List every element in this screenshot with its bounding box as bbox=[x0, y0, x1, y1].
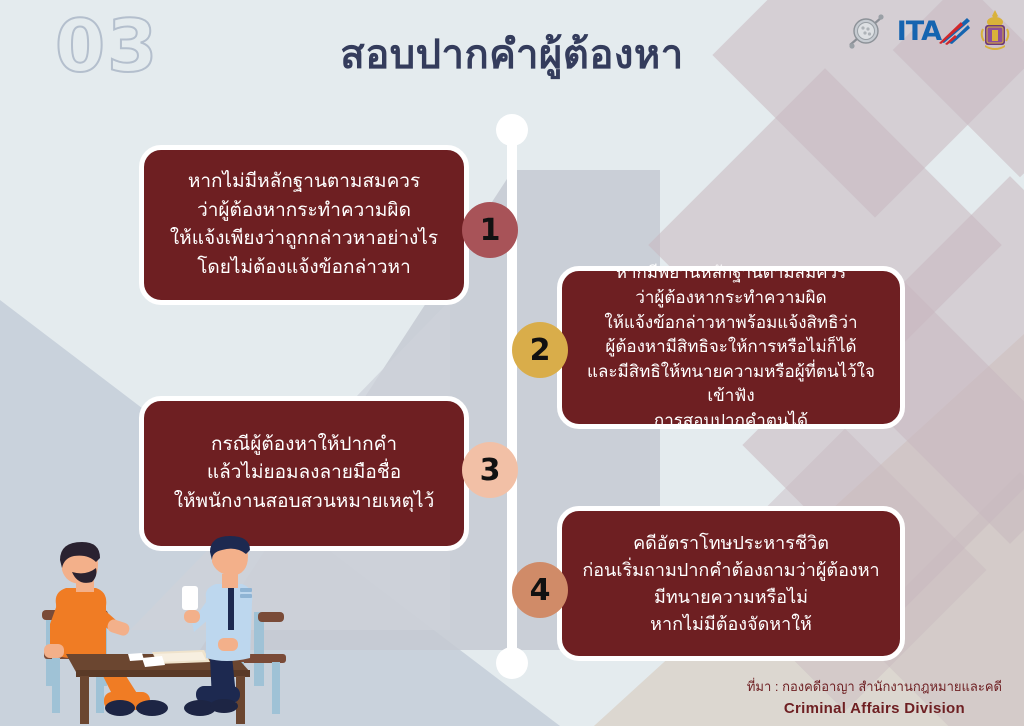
step-badge-2[interactable]: 2 bbox=[512, 322, 568, 378]
suspect-figure bbox=[44, 542, 168, 716]
logo-group: ITA bbox=[844, 8, 1010, 54]
step-badge-4-number: 4 bbox=[530, 573, 551, 608]
step-card-2[interactable]: หากมีพยานหลักฐานตามสมควรว่าผู้ต้องหากระท… bbox=[557, 266, 905, 429]
card-line: การสอบปากคำตนได้ bbox=[578, 409, 884, 434]
card-line: คดีอัตราโทษประหารชีวิต bbox=[582, 530, 879, 557]
ita-logo: ITA bbox=[897, 16, 971, 47]
card-line: ก่อนเริ่มถามปากคำต้องถามว่าผู้ต้องหา bbox=[582, 557, 879, 584]
step-card-3-text: กรณีผู้ต้องหาให้ปากคำแล้วไม่ยอมลงลายมือช… bbox=[174, 431, 435, 517]
card-line: หากมีพยานหลักฐานตามสมควร bbox=[578, 261, 884, 286]
card-line: และมีสิทธิให้ทนายความหรือผู้ที่ตนไว้ใจเข… bbox=[578, 360, 884, 409]
step-badge-2-number: 2 bbox=[530, 333, 551, 368]
royal-emblem-icon bbox=[980, 9, 1010, 53]
step-badge-1-number: 1 bbox=[480, 213, 501, 248]
interrogation-scene bbox=[0, 526, 290, 726]
footer-division: Criminal Affairs Division bbox=[747, 697, 1002, 720]
card-line: มีทนายความหรือไม่ bbox=[582, 584, 879, 611]
card-line: ว่าผู้ต้องหากระทำความผิด bbox=[170, 197, 438, 226]
timeline-bottom-dot bbox=[496, 647, 528, 679]
step-badge-4[interactable]: 4 bbox=[512, 562, 568, 618]
timeline-top-dot bbox=[496, 114, 528, 146]
footer-source: ที่มา : กองคดีอาญา สำนักงานกฎหมายและคดี bbox=[747, 677, 1002, 697]
step-card-1-text: หากไม่มีหลักฐานตามสมควรว่าผู้ต้องหากระทำ… bbox=[170, 168, 438, 282]
card-line: ว่าผู้ต้องหากระทำความผิด bbox=[578, 286, 884, 311]
card-line: โดยไม่ต้องแจ้งข้อกล่าวหา bbox=[170, 254, 438, 283]
step-badge-3-number: 3 bbox=[480, 453, 501, 488]
step-card-4-text: คดีอัตราโทษประหารชีวิตก่อนเริ่มถามปากคำต… bbox=[582, 530, 879, 638]
footer: ที่มา : กองคดีอาญา สำนักงานกฎหมายและคดี … bbox=[747, 677, 1002, 720]
card-line: ให้แจ้งข้อกล่าวหาพร้อมแจ้งสิทธิว่า bbox=[578, 311, 884, 336]
slide-root: 03 สอบปากคำผู้ต้องหา ITA bbox=[0, 0, 1024, 726]
card-line: ผู้ต้องหามีสิทธิจะให้การหรือไม่ก็ได้ bbox=[578, 335, 884, 360]
step-badge-1[interactable]: 1 bbox=[462, 202, 518, 258]
card-line: หากไม่มีหลักฐานตามสมควร bbox=[170, 168, 438, 197]
step-card-2-text: หากมีพยานหลักฐานตามสมควรว่าผู้ต้องหากระท… bbox=[578, 261, 884, 433]
police-seal-icon bbox=[844, 9, 888, 53]
ita-logo-text: ITA bbox=[897, 16, 941, 47]
card-line: แล้วไม่ยอมลงลายมือชื่อ bbox=[174, 459, 435, 488]
card-line: ให้แจ้งเพียงว่าถูกกล่าวหาอย่างไร bbox=[170, 225, 438, 254]
step-card-1[interactable]: หากไม่มีหลักฐานตามสมควรว่าผู้ต้องหากระทำ… bbox=[139, 145, 469, 305]
card-line: กรณีผู้ต้องหาให้ปากคำ bbox=[174, 431, 435, 460]
step-badge-3[interactable]: 3 bbox=[462, 442, 518, 498]
card-line: ให้พนักงานสอบสวนหมายเหตุไว้ bbox=[174, 488, 435, 517]
step-card-4[interactable]: คดีอัตราโทษประหารชีวิตก่อนเริ่มถามปากคำต… bbox=[557, 506, 905, 661]
card-line: หากไม่มีต้องจัดหาให้ bbox=[582, 611, 879, 638]
